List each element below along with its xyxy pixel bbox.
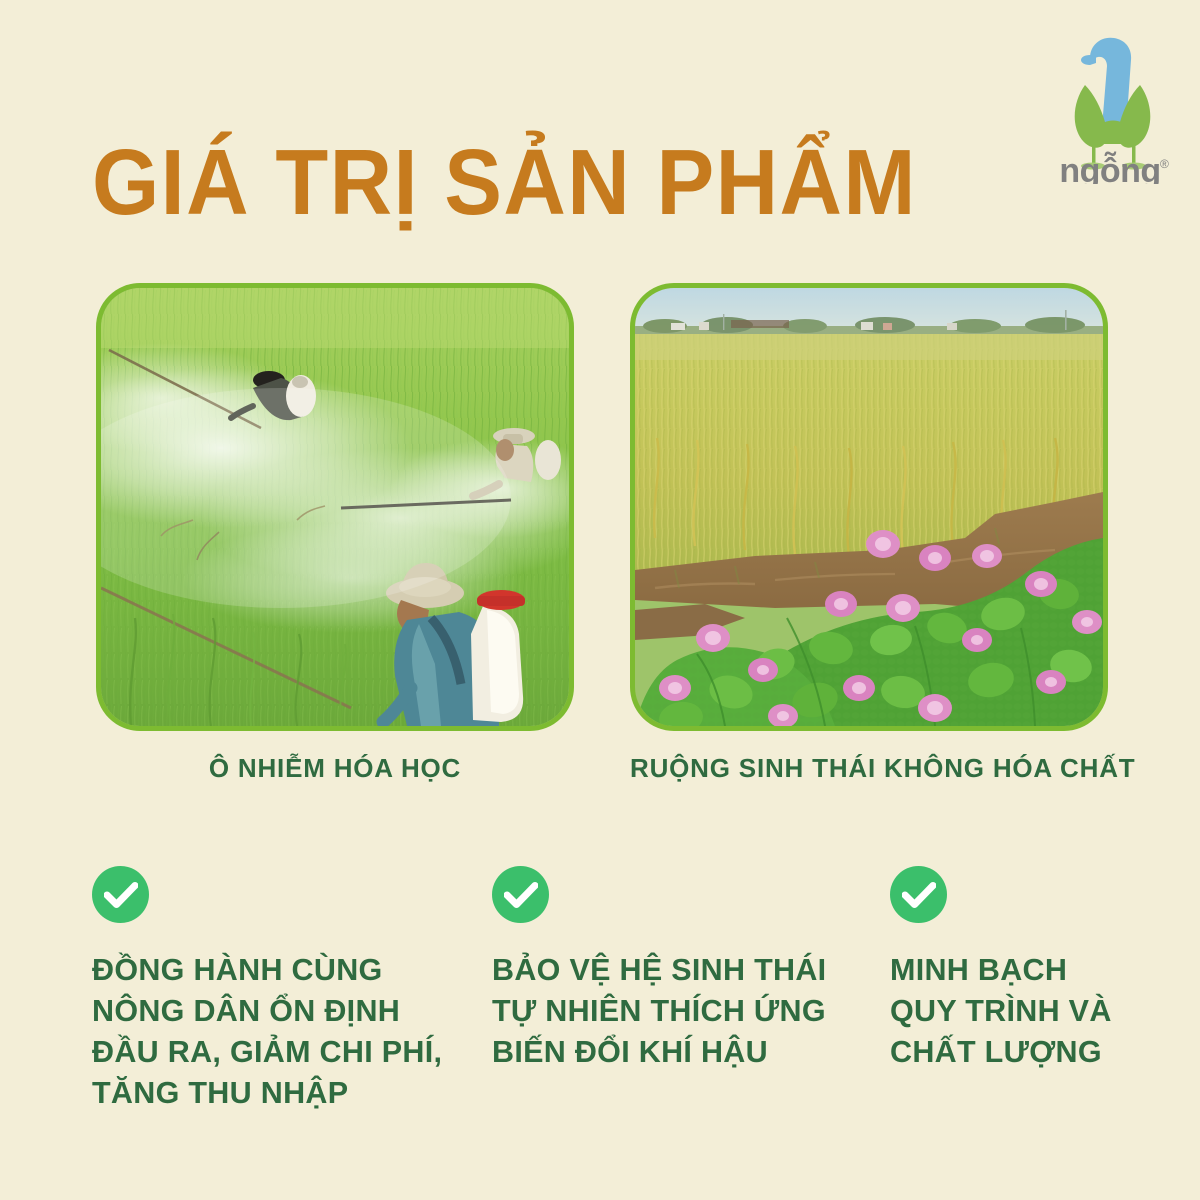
chemical-pollution-image — [101, 288, 569, 726]
benefits-row: ĐỒNG HÀNH CÙNG NÔNG DÂN ỔN ĐỊNH ĐẦU RA, … — [92, 866, 1122, 1114]
ecological-field-photo — [630, 283, 1108, 731]
ecological-field-image — [635, 288, 1103, 726]
benefit-item-1: ĐỒNG HÀNH CÙNG NÔNG DÂN ỔN ĐỊNH ĐẦU RA, … — [92, 866, 492, 1114]
page-title: GIÁ TRỊ SẢN PHẨM — [92, 132, 917, 232]
benefit-text-1: ĐỒNG HÀNH CÙNG NÔNG DÂN ỔN ĐỊNH ĐẦU RA, … — [92, 950, 492, 1114]
chemical-pollution-photo — [96, 283, 574, 731]
photo-comparison-row — [96, 283, 1108, 731]
caption-chemical-pollution: Ô NHIỄM HÓA HỌC — [96, 750, 574, 790]
benefit-item-2: BẢO VỆ HỆ SINH THÁI TỰ NHIÊN THÍCH ỨNG B… — [492, 866, 890, 1114]
logo-wordmark: ngỗng — [1059, 152, 1160, 184]
brand-logo: ngỗng ® — [1052, 22, 1176, 184]
benefit-text-2: BẢO VỆ HỆ SINH THÁI TỰ NHIÊN THÍCH ỨNG B… — [492, 950, 890, 1073]
goose-beak-shape — [1081, 55, 1096, 65]
benefit-text-3: MINH BẠCH QUY TRÌNH VÀ CHẤT LƯỢNG — [890, 950, 1122, 1073]
benefit-item-3: MINH BẠCH QUY TRÌNH VÀ CHẤT LƯỢNG — [890, 866, 1122, 1114]
photo-captions-row: Ô NHIỄM HÓA HỌC RUỘNG SINH THÁI KHÔNG HÓ… — [96, 750, 1108, 790]
registered-trademark-icon: ® — [1160, 157, 1169, 171]
caption-ecological-field: RUỘNG SINH THÁI KHÔNG HÓA CHẤT — [630, 750, 1108, 790]
check-circle-icon — [890, 866, 947, 923]
check-circle-icon — [92, 866, 149, 923]
check-circle-icon — [492, 866, 549, 923]
